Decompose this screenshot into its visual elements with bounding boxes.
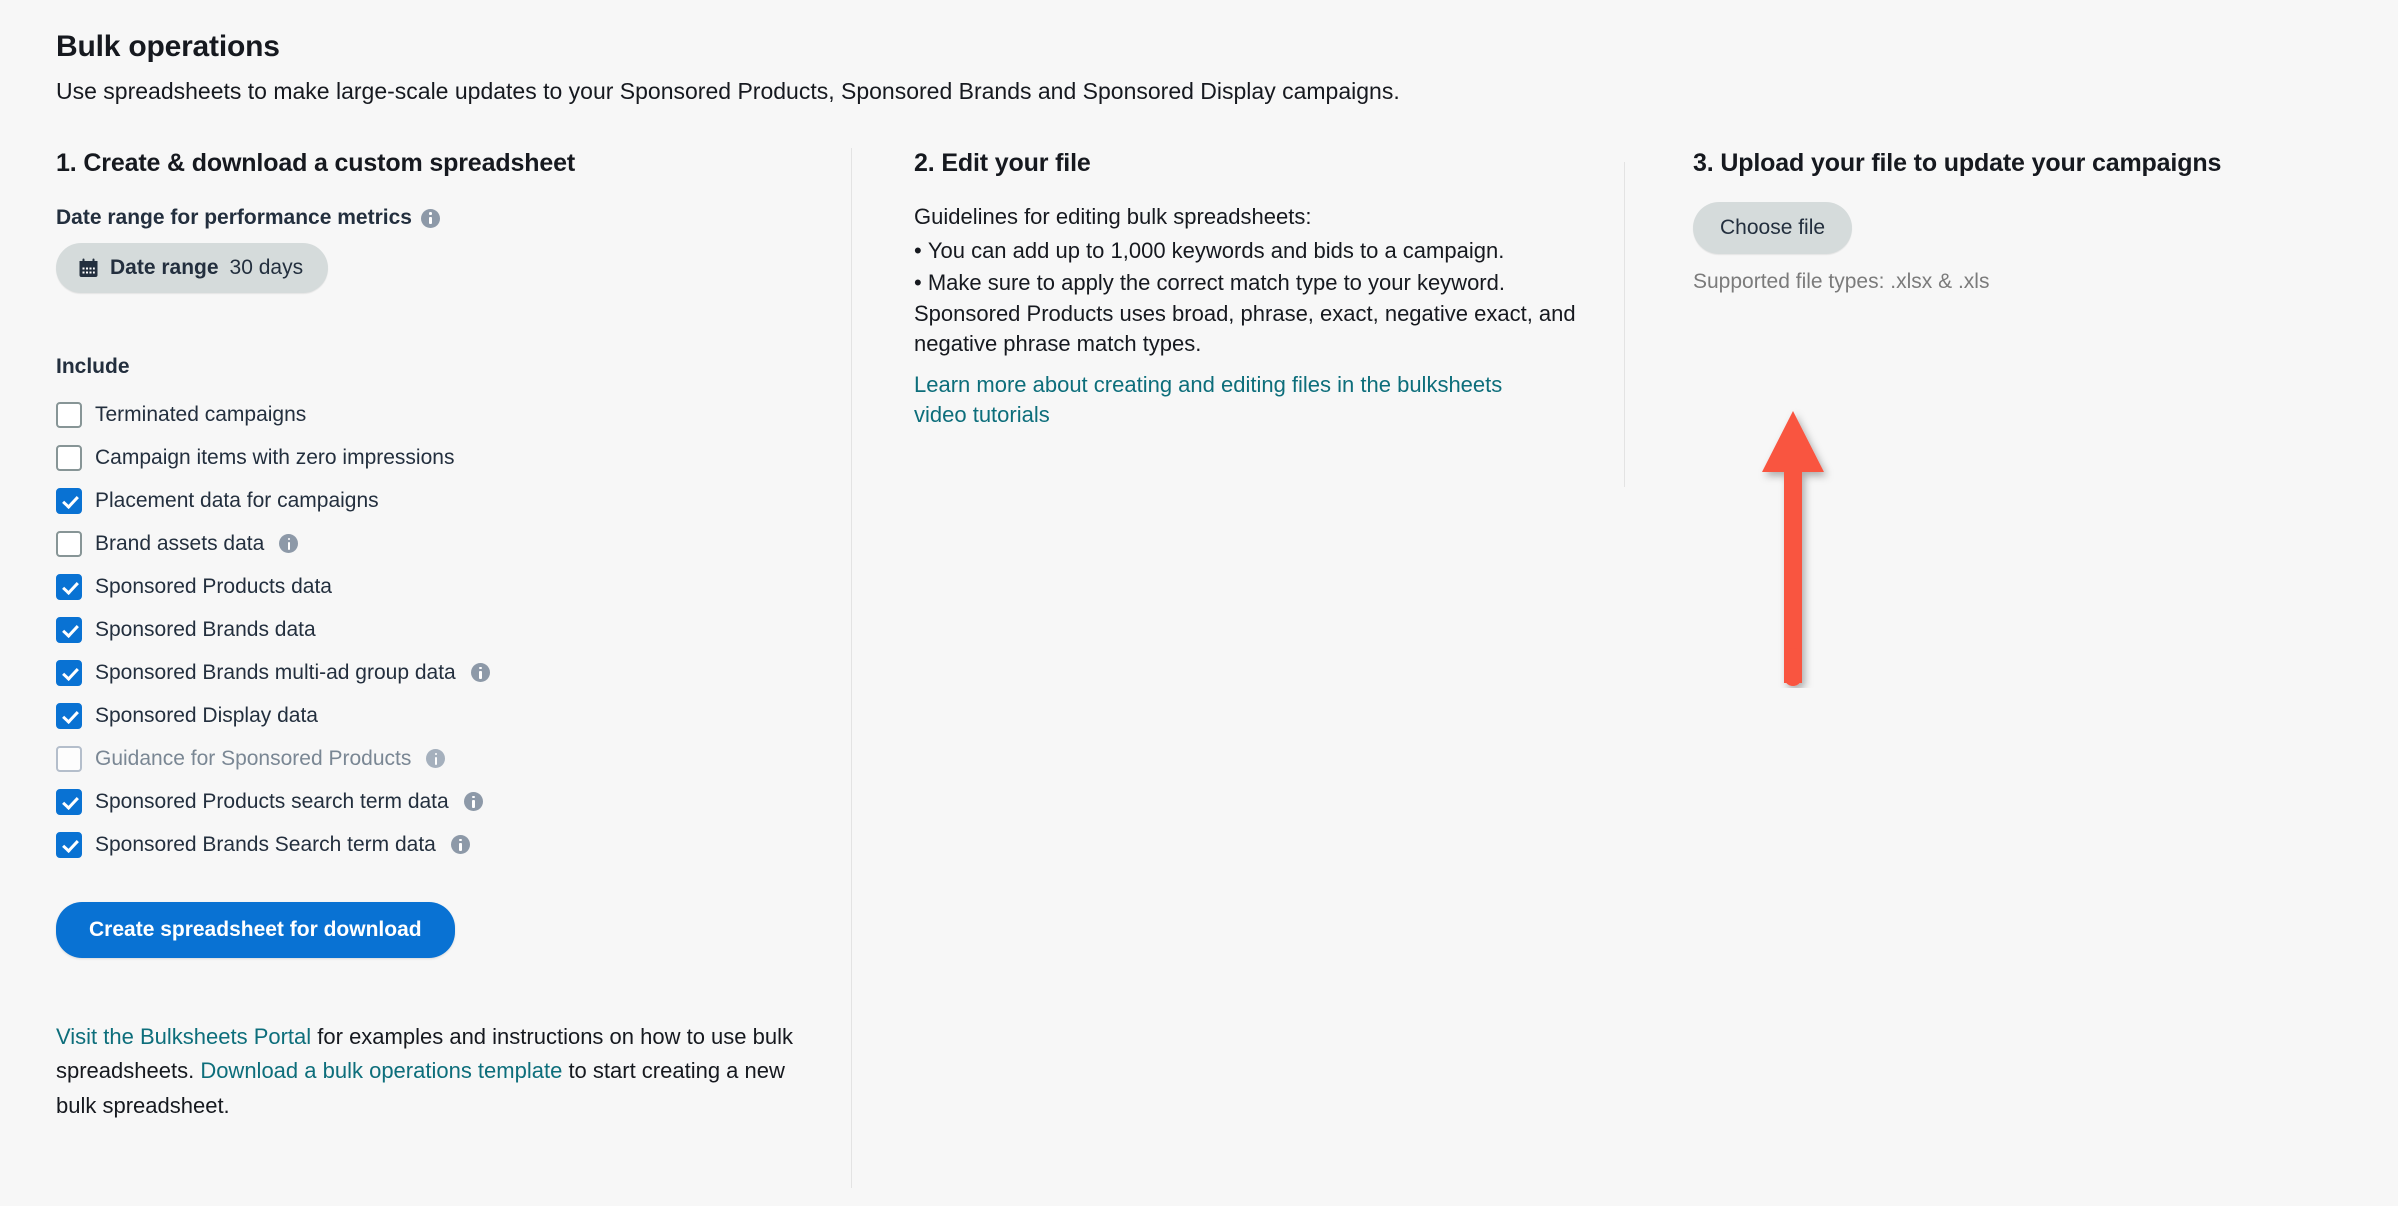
include-checkbox-label: Sponsored Brands multi-ad group data xyxy=(95,661,456,685)
include-checkbox-row[interactable]: Sponsored Brands Search term data xyxy=(56,823,811,866)
checkbox-checked-icon[interactable] xyxy=(56,617,82,643)
include-checkbox-row[interactable]: Placement data for campaigns xyxy=(56,479,811,522)
include-checkbox-label: Sponsored Brands Search term data xyxy=(95,833,436,857)
include-checkbox-row[interactable]: Campaign items with zero impressions xyxy=(56,436,811,479)
include-checkbox-label: Guidance for Sponsored Products xyxy=(95,747,411,771)
checkbox-checked-icon[interactable] xyxy=(56,832,82,858)
page-title: Bulk operations xyxy=(56,30,2398,65)
include-checkbox-label: Terminated campaigns xyxy=(95,403,306,427)
guideline-item: Make sure to apply the correct match typ… xyxy=(914,268,1594,359)
date-range-label: Date range for performance metrics xyxy=(56,206,412,230)
create-spreadsheet-button[interactable]: Create spreadsheet for download xyxy=(56,902,455,958)
include-checkbox-label: Placement data for campaigns xyxy=(95,489,379,513)
download-template-link[interactable]: Download a bulk operations template xyxy=(200,1058,562,1083)
guidelines-intro: Guidelines for editing bulk spreadsheets… xyxy=(914,202,1594,232)
checkbox-unchecked-icon xyxy=(56,746,82,772)
bulksheets-portal-link[interactable]: Visit the Bulksheets Portal xyxy=(56,1024,311,1049)
include-checkbox-label: Sponsored Display data xyxy=(95,704,318,728)
checkbox-unchecked-icon[interactable] xyxy=(56,531,82,557)
date-range-button-label: Date range xyxy=(110,256,219,280)
checkbox-checked-icon[interactable] xyxy=(56,488,82,514)
checkbox-checked-icon[interactable] xyxy=(56,703,82,729)
include-checkbox-row[interactable]: Sponsored Brands data xyxy=(56,608,811,651)
info-icon[interactable] xyxy=(426,749,445,768)
include-checkbox-row[interactable]: Sponsored Display data xyxy=(56,694,811,737)
include-checkbox-row[interactable]: Terminated campaigns xyxy=(56,393,811,436)
column2-heading: 2. Edit your file xyxy=(914,148,1594,178)
learn-more-link[interactable]: Learn more about creating and editing fi… xyxy=(914,370,1554,431)
supported-file-types: Supported file types: .xlsx & .xls xyxy=(1693,270,2398,294)
include-checkbox-label: Sponsored Brands data xyxy=(95,618,316,642)
include-checkbox-label: Campaign items with zero impressions xyxy=(95,446,454,470)
include-checkbox-label: Sponsored Products search term data xyxy=(95,790,449,814)
include-checkbox-row[interactable]: Sponsored Products search term data xyxy=(56,780,811,823)
info-icon[interactable] xyxy=(451,835,470,854)
column-create-download: 1. Create & download a custom spreadshee… xyxy=(56,148,851,1144)
checkbox-checked-icon[interactable] xyxy=(56,789,82,815)
include-checkbox-row[interactable]: Sponsored Products data xyxy=(56,565,811,608)
column1-heading: 1. Create & download a custom spreadshee… xyxy=(56,148,811,178)
footer-note: Visit the Bulksheets Portal for examples… xyxy=(56,1020,811,1122)
include-checkbox-row[interactable]: Brand assets data xyxy=(56,522,811,565)
include-title: Include xyxy=(56,355,811,379)
date-range-label-row: Date range for performance metrics xyxy=(56,206,811,230)
columns-container: 1. Create & download a custom spreadshee… xyxy=(56,148,2398,1188)
checkbox-checked-icon[interactable] xyxy=(56,574,82,600)
date-range-button-value: 30 days xyxy=(230,256,304,280)
date-range-button[interactable]: Date range 30 days xyxy=(56,243,328,293)
info-icon[interactable] xyxy=(464,792,483,811)
column3-heading: 3. Upload your file to update your campa… xyxy=(1693,148,2398,178)
calendar-icon xyxy=(78,258,99,278)
include-checkbox-label: Sponsored Products data xyxy=(95,575,332,599)
checkbox-checked-icon[interactable] xyxy=(56,660,82,686)
page-subtitle: Use spreadsheets to make large-scale upd… xyxy=(56,77,2398,107)
checkbox-unchecked-icon[interactable] xyxy=(56,402,82,428)
info-icon[interactable] xyxy=(471,663,490,682)
info-icon[interactable] xyxy=(421,209,440,228)
include-checkbox-label: Brand assets data xyxy=(95,532,264,556)
choose-file-button[interactable]: Choose file xyxy=(1693,202,1852,254)
guideline-item: You can add up to 1,000 keywords and bid… xyxy=(914,236,1594,266)
include-checkbox-row: Guidance for Sponsored Products xyxy=(56,737,811,780)
column-edit-file: 2. Edit your file Guidelines for editing… xyxy=(852,148,1624,430)
guidelines-list: You can add up to 1,000 keywords and bid… xyxy=(914,236,1594,359)
bulk-operations-page: Bulk operations Use spreadsheets to make… xyxy=(0,0,2398,1206)
info-icon[interactable] xyxy=(279,534,298,553)
include-checkbox-row[interactable]: Sponsored Brands multi-ad group data xyxy=(56,651,811,694)
include-checkbox-list: Terminated campaignsCampaign items with … xyxy=(56,393,811,866)
checkbox-unchecked-icon[interactable] xyxy=(56,445,82,471)
column-upload-file: 3. Upload your file to update your campa… xyxy=(1625,148,2398,294)
